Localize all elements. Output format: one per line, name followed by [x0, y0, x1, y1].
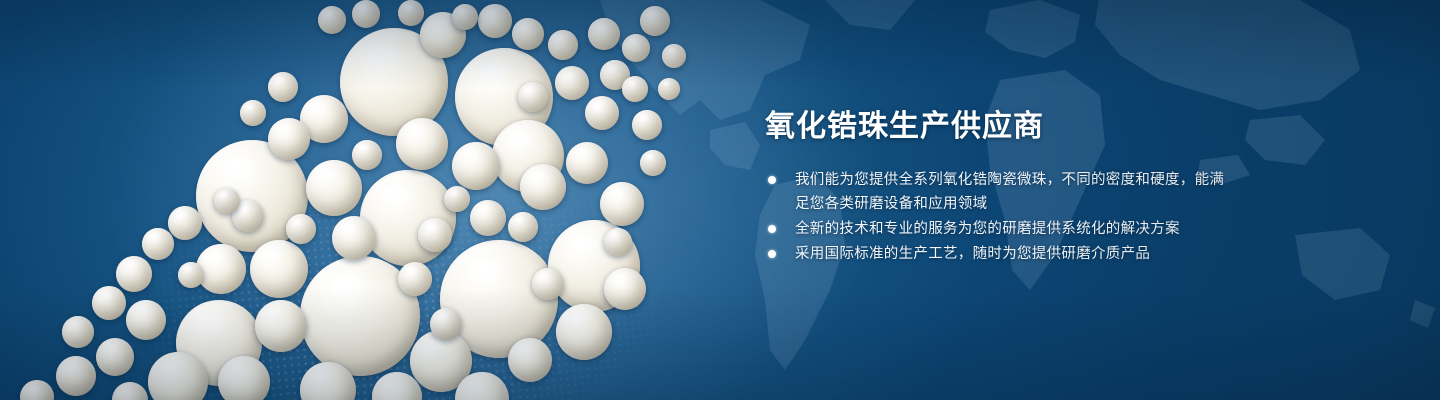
hero-banner: 氧化锆珠生产供应商 我们能为您提供全系列氧化锆陶瓷微珠，不同的密度和硬度，能满足…: [0, 0, 1440, 400]
vignette-overlay: [0, 0, 1440, 400]
